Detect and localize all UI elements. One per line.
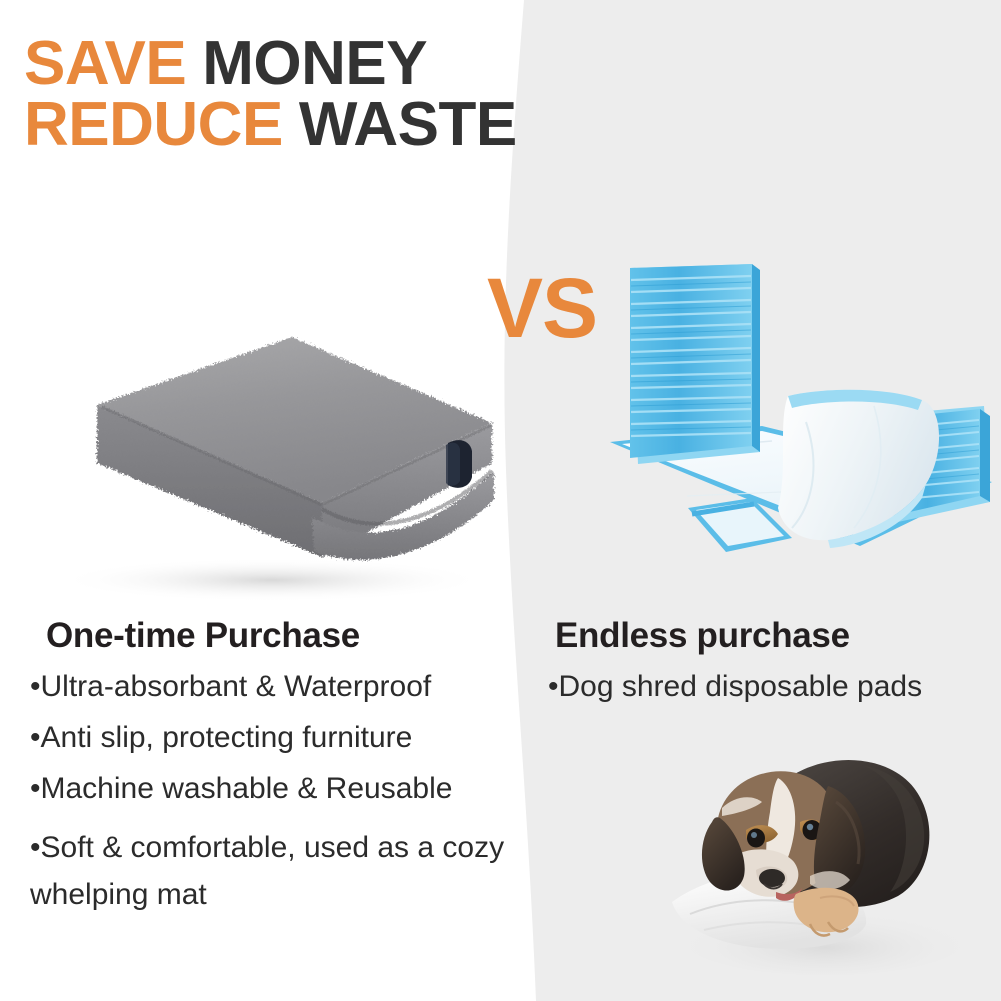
headline-reduce: REDUCE [24,90,283,159]
headline-line-1: SAVEMONEY [24,34,517,95]
list-item: •Anti slip, protecting furniture [30,723,530,753]
right-column-heading: Endless purchase [555,616,850,656]
headline-waste: WASTE [299,90,517,159]
headline-line-2: REDUCEWASTE [24,95,517,156]
headline-money: MONEY [202,29,427,98]
comparison-infographic: SAVEMONEY REDUCEWASTE [0,0,1001,1001]
list-item: •Ultra-absorbant & Waterproof [30,672,530,702]
draped-pad [778,390,939,548]
headline-save: SAVE [24,29,186,98]
left-column-feature-list: •Ultra-absorbant & Waterproof •Anti slip… [30,672,530,939]
right-column-feature-list: •Dog shred disposable pads [548,672,988,723]
page-title: SAVEMONEY REDUCEWASTE [24,34,517,156]
disposable-pads-product-image [592,246,997,586]
puppy-photo [660,726,980,981]
list-item: •Machine washable & Reusable [30,774,530,804]
left-column-heading: One-time Purchase [46,616,360,656]
pad-stack-tall [630,264,760,464]
list-item: •Soft & comfortable, used as a cozy whel… [30,825,530,918]
versus-badge: VS [487,266,597,350]
list-item: •Dog shred disposable pads [548,672,988,702]
gray-mat-product-image [22,295,522,605]
